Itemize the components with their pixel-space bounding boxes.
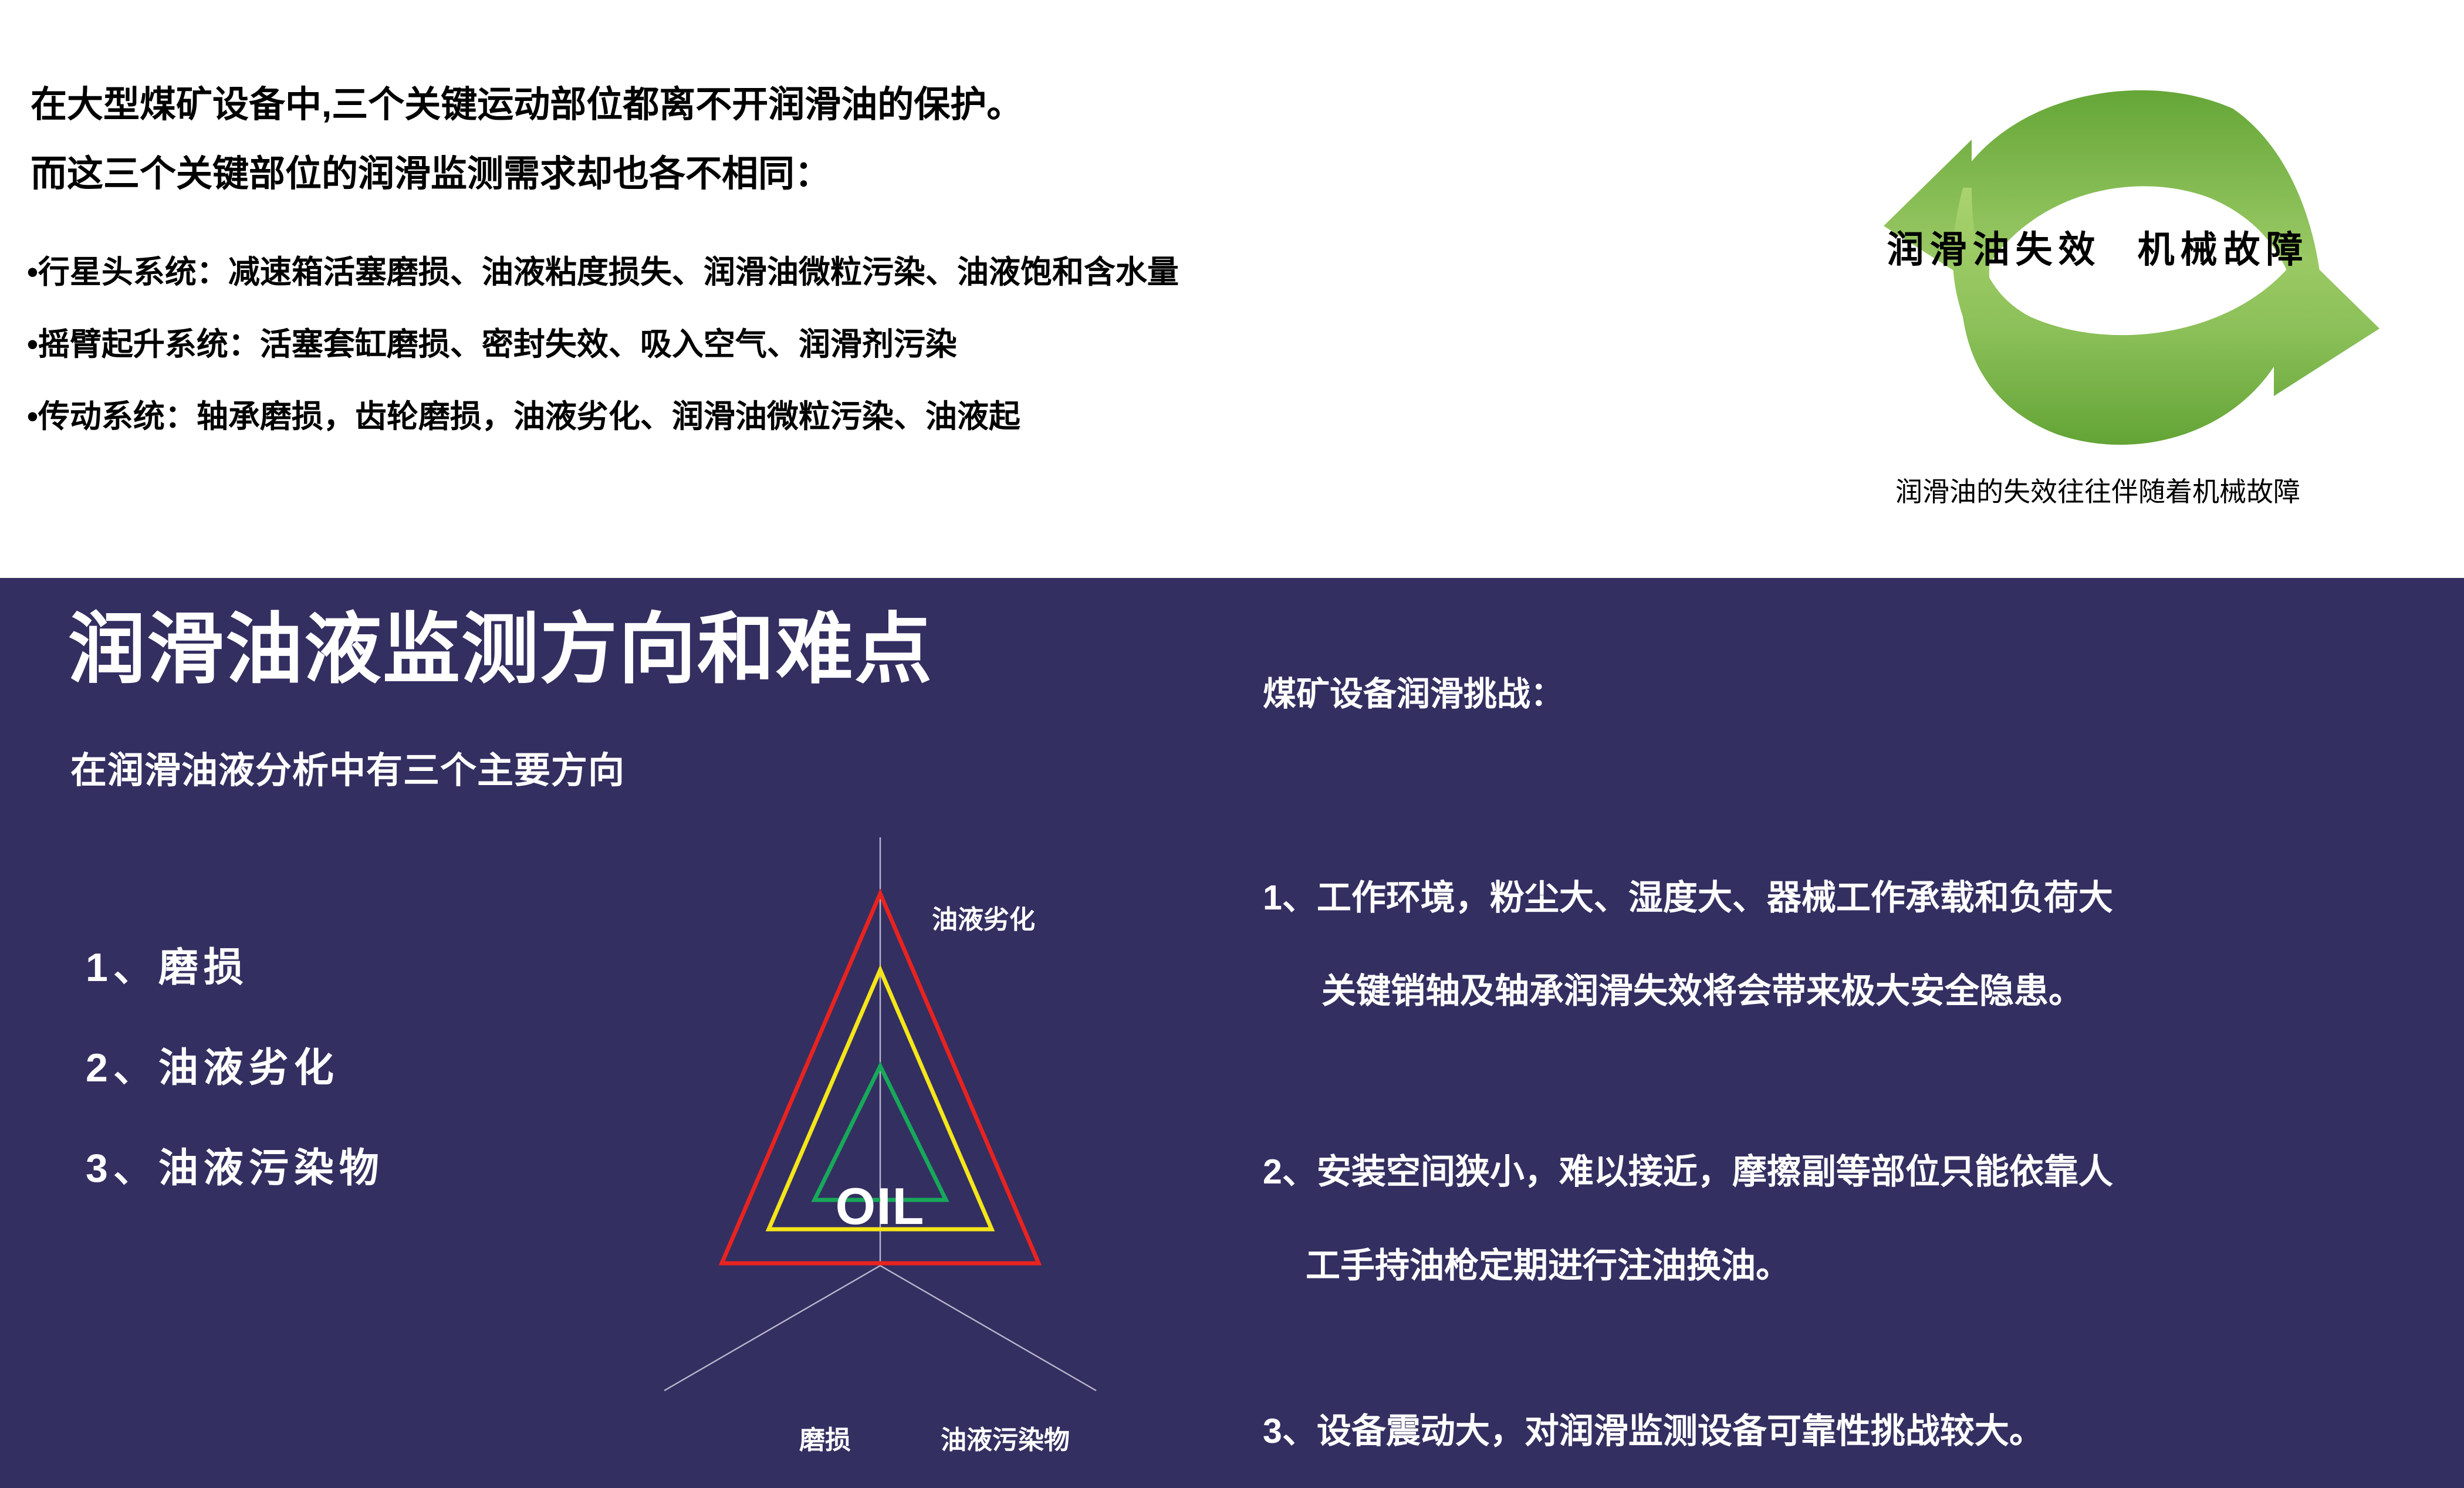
triangle-vertex-label-right: 油液污染物 (941, 1419, 1070, 1456)
cycle-labels-row: 润滑油失效机械故障 (1796, 220, 2400, 273)
intro-paragraph: 在大型煤矿设备中,三个关键运动部位都离不开润滑油的保护。 而这三个关键部位的润滑… (31, 87, 1674, 192)
bullet-item-rocker-arm: •摇臂起升系统：活塞套缸磨损、密封失效、吸入空气、润滑剂污染 (27, 329, 1729, 360)
top-white-section: 在大型煤矿设备中,三个关键运动部位都离不开润滑油的保护。 而这三个关键部位的润滑… (0, 0, 2464, 578)
bullet-item-planetary: •行星头系统：减速箱活塞磨损、油液粘度损失、润滑油微粒污染、油液饱和含水量 (27, 256, 1729, 288)
page-title: 润滑油液监测方向和难点 (68, 611, 933, 688)
lubricant-failure-cycle-graphic: 润滑油失效机械故障 润滑油的失效往往伴随着机械故障 (1796, 70, 2400, 516)
oil-triangle-diagram: OIL 油液劣化 磨损 油液污染物 (528, 824, 1232, 1411)
nested-triangles-chart (528, 824, 1232, 1411)
page-subtitle: 在润滑油液分析中有三个主要方向 (70, 740, 625, 793)
cycle-label-right: 机械故障 (2138, 229, 2309, 270)
cycle-label-left: 润滑油失效 (1887, 229, 2101, 270)
challenge-1-line-2: 关键销轴及轴承润滑失效将会带来极大安全隐患。 (1321, 974, 2083, 1009)
intro-line-2: 而这三个关键部位的润滑监测需求却也各不相同： (31, 156, 1674, 192)
challenge-3-line-1: 3、设备震动大，对润滑监测设备可靠性挑战较大。 (1263, 1414, 2044, 1449)
challenge-2-line-2: 工手持油枪定期进行注油换油。 (1306, 1249, 1790, 1283)
bullet-item-transmission: •传动系统：轴承磨损，齿轮磨损，油液劣化、润滑油微粒污染、油液起 (27, 401, 1729, 432)
triangle-vertex-label-top: 油液劣化 (932, 898, 1035, 936)
intro-line-1: 在大型煤矿设备中,三个关键运动部位都离不开润滑油的保护。 (31, 87, 1674, 123)
triangle-vertex-label-left: 磨损 (799, 1419, 851, 1456)
cycle-caption: 润滑油的失效往往伴随着机械故障 (1796, 471, 2400, 509)
system-bullet-list: •行星头系统：减速箱活塞磨损、油液粘度损失、润滑油微粒污染、油液饱和含水量 •摇… (27, 256, 1729, 432)
challenges-header: 煤矿设备润滑挑战： (1263, 667, 1564, 715)
challenge-1-line-1: 1、工作环境，粉尘大、湿度大、器械工作承载和负荷大 (1263, 881, 2113, 915)
challenge-2-line-1: 2、安装空间狭小，难以接近，摩擦副等部位只能依靠人 (1263, 1155, 2113, 1189)
dark-content-section: 润滑油液监测方向和难点 在润滑油液分析中有三个主要方向 1、磨损 2、油液劣化 … (0, 578, 2464, 1488)
triangle-center-label: OIL (528, 1176, 1232, 1236)
